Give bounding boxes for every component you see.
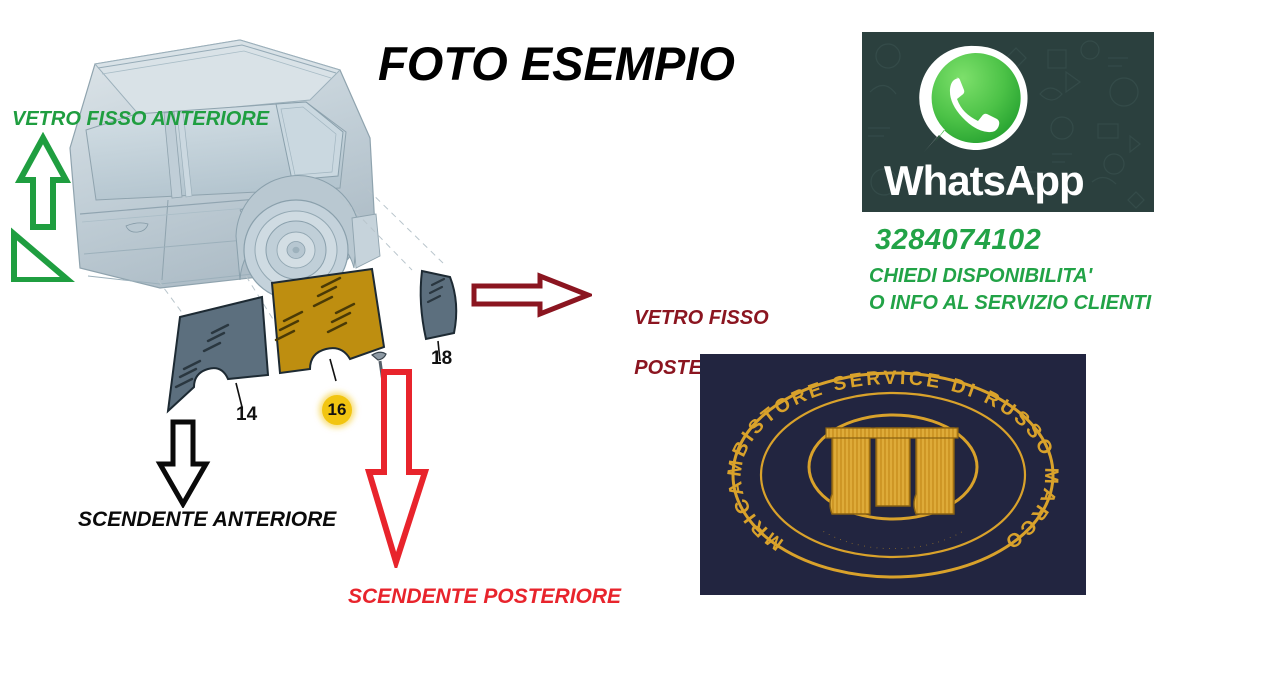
part-number-14: 14 <box>236 404 257 426</box>
right-arrow-dark-red-icon <box>470 272 592 318</box>
down-arrow-red-icon <box>365 368 431 568</box>
whatsapp-banner: WhatsApp <box>862 32 1154 212</box>
down-arrow-black-icon <box>155 418 211 508</box>
page-title: FOTO ESEMPIO <box>378 36 798 91</box>
availability-text-line1: CHIEDI DISPONIBILITA' <box>869 265 1092 288</box>
exploded-glass-parts <box>150 255 490 430</box>
poster-canvas: 14 16 17 18 FOTO ESEMPIO VETRO FISSO ANT… <box>0 0 1264 678</box>
label-scendente-posteriore: SCENDENTE POSTERIORE <box>348 585 621 609</box>
up-arrow-green-icon <box>8 132 78 282</box>
shop-logo: MRICAMBISTORE SERVICE DI RUSSO MARCO · ·… <box>700 354 1086 595</box>
whatsapp-wordmark: WhatsApp <box>884 160 1134 202</box>
logo-monogram <box>826 428 958 514</box>
label-scendente-anteriore: SCENDENTE ANTERIORE <box>78 508 336 532</box>
part-number-16-badge: 16 <box>322 395 352 425</box>
label-vetro-fisso-anteriore: VETRO FISSO ANTERIORE <box>12 108 269 130</box>
label-vetro-post-line1: VETRO FISSO <box>634 307 768 329</box>
phone-number[interactable]: 3284074102 <box>875 224 1041 257</box>
part-number-18: 18 <box>431 348 452 370</box>
whatsapp-logo-icon <box>914 40 1036 162</box>
part-number-16: 16 <box>328 400 347 420</box>
availability-text-line2: O INFO AL SERVIZIO CLIENTI <box>869 292 1151 315</box>
